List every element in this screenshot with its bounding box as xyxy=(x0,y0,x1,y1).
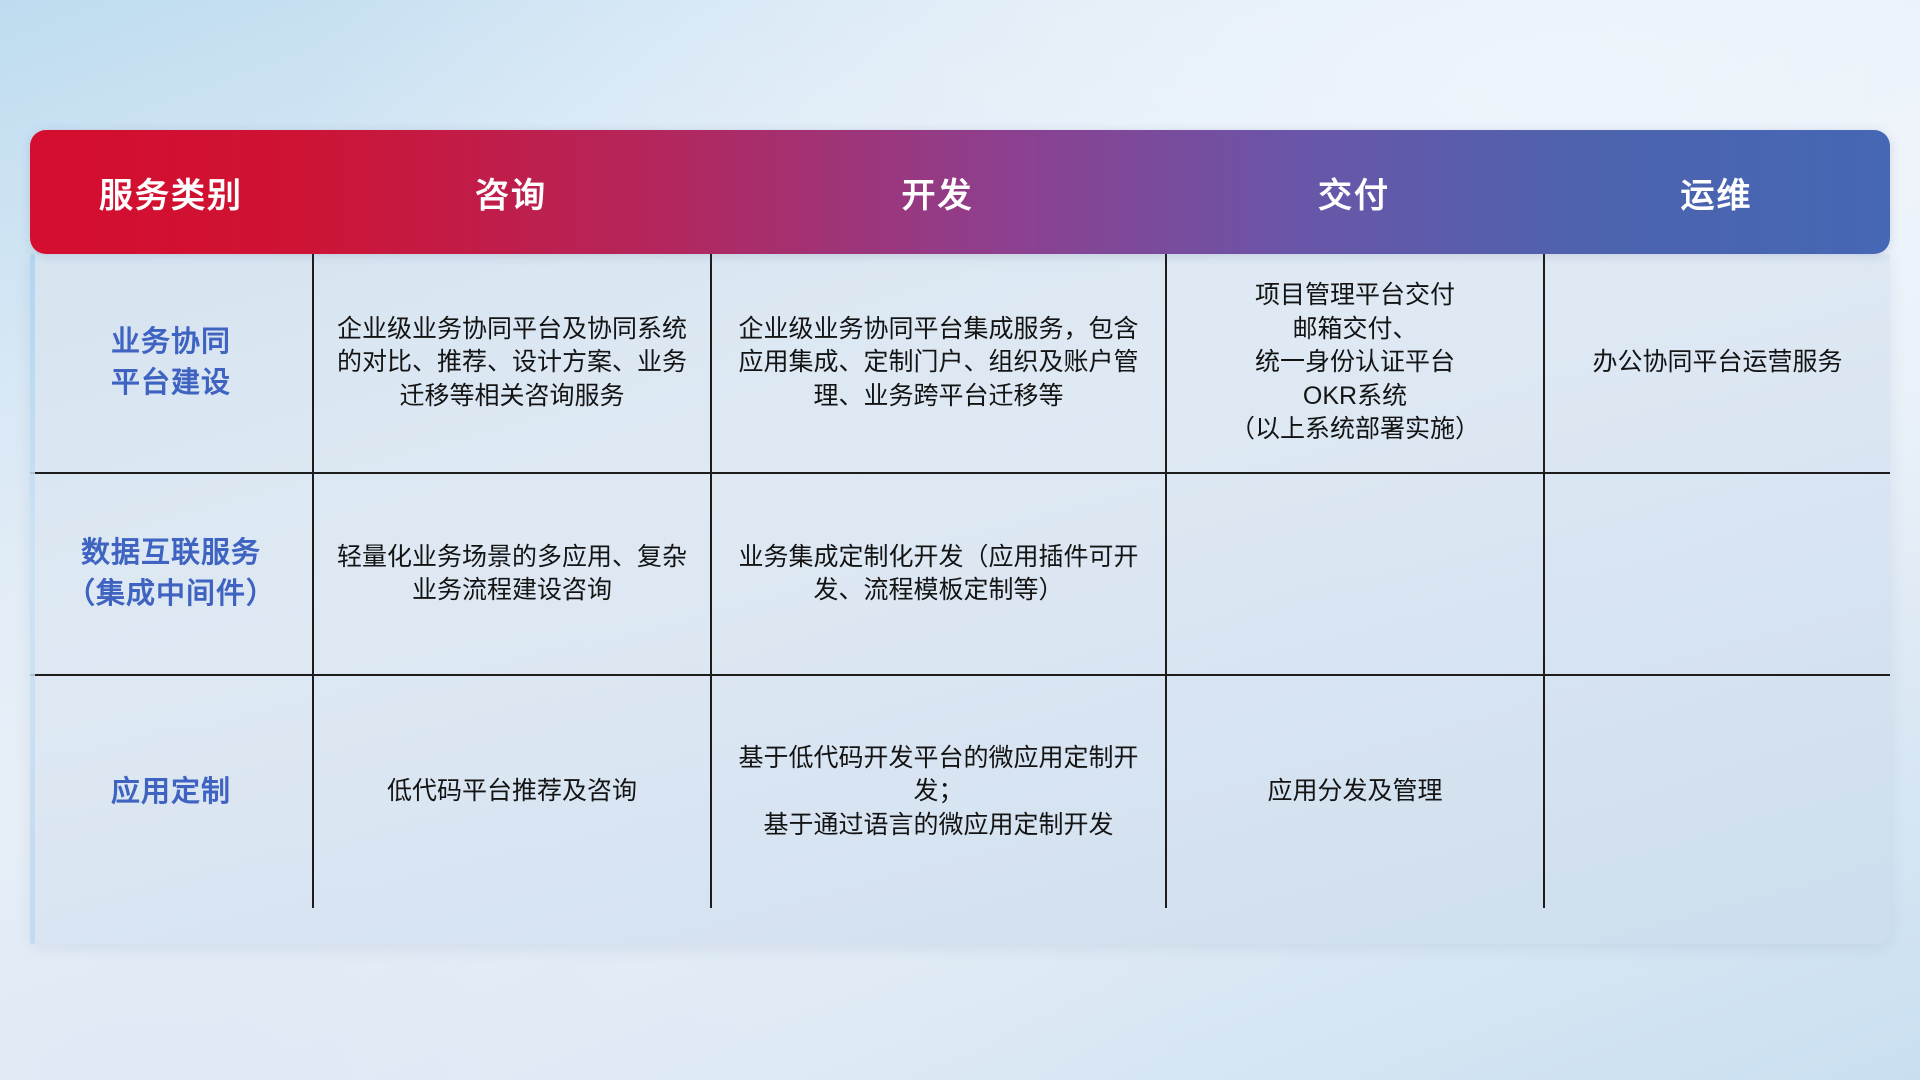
cell-delivery xyxy=(1165,474,1543,674)
column-header-operations: 运维 xyxy=(1543,168,1890,217)
cell-development: 企业级业务协同平台集成服务，包含应用集成、定制门户、组织及账户管理、业务跨平台迁… xyxy=(710,254,1165,472)
cell-delivery: 项目管理平台交付 邮箱交付、 统一身份认证平台 OKR系统 （以上系统部署实施） xyxy=(1165,254,1543,472)
cell-consulting: 企业级业务协同平台及协同系统的对比、推荐、设计方案、业务迁移等相关咨询服务 xyxy=(312,254,710,472)
table-body: 业务协同 平台建设 企业级业务协同平台及协同系统的对比、推荐、设计方案、业务迁移… xyxy=(30,254,1890,944)
column-header-development: 开发 xyxy=(710,168,1165,217)
cell-delivery: 应用分发及管理 xyxy=(1165,676,1543,908)
table-header-row: 服务类别 咨询 开发 交付 运维 xyxy=(30,130,1890,254)
cell-operations xyxy=(1543,474,1890,674)
column-header-delivery: 交付 xyxy=(1165,168,1543,217)
service-matrix-table: 服务类别 咨询 开发 交付 运维 业务协同 平台建设 企业级业务协同平台及协同系… xyxy=(30,130,1890,944)
cell-operations: 办公协同平台运营服务 xyxy=(1543,254,1890,472)
slide-canvas: 服务类别 咨询 开发 交付 运维 业务协同 平台建设 企业级业务协同平台及协同系… xyxy=(0,0,1920,1080)
table-row: 数据互联服务 （集成中间件） 轻量化业务场景的多应用、复杂业务流程建设咨询 业务… xyxy=(30,472,1890,674)
table-row: 业务协同 平台建设 企业级业务协同平台及协同系统的对比、推荐、设计方案、业务迁移… xyxy=(30,254,1890,472)
left-edge-accent xyxy=(30,254,35,944)
column-header-consulting: 咨询 xyxy=(312,168,710,217)
table-row: 应用定制 低代码平台推荐及咨询 基于低代码开发平台的微应用定制开发； 基于通过语… xyxy=(30,674,1890,908)
row-category-label: 应用定制 xyxy=(30,676,312,908)
cell-development: 业务集成定制化开发（应用插件可开发、流程模板定制等） xyxy=(710,474,1165,674)
column-header-category: 服务类别 xyxy=(30,168,312,217)
cell-development: 基于低代码开发平台的微应用定制开发； 基于通过语言的微应用定制开发 xyxy=(710,676,1165,908)
cell-consulting: 低代码平台推荐及咨询 xyxy=(312,676,710,908)
cell-operations xyxy=(1543,676,1890,908)
row-category-label: 业务协同 平台建设 xyxy=(30,254,312,472)
cell-consulting: 轻量化业务场景的多应用、复杂业务流程建设咨询 xyxy=(312,474,710,674)
row-category-label: 数据互联服务 （集成中间件） xyxy=(30,474,312,674)
